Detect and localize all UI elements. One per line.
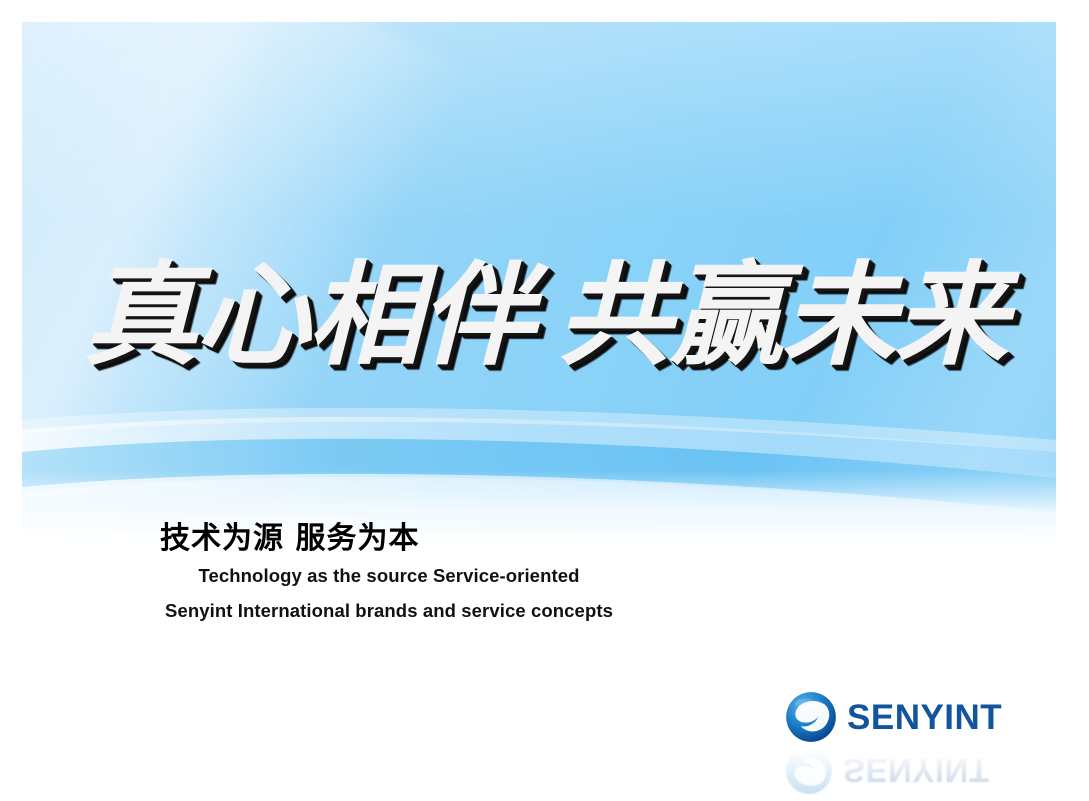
headline: 真心相伴共赢未来: [0, 258, 1089, 376]
title-slide: 真心相伴共赢未来 技术为源 服务为本 Technology as the sou…: [0, 0, 1089, 801]
logo-main: SENYINT: [784, 690, 1002, 744]
subtitle-english-line-2: Senyint International brands and service…: [22, 597, 1056, 625]
logo-reflection: SENYINT: [784, 746, 990, 796]
senyint-globe-icon-reflection: [784, 746, 834, 796]
subtitle-english-line-1: Technology as the source Service-oriente…: [22, 562, 1056, 590]
logo-wordmark-reflection: SENYINT: [843, 755, 990, 788]
logo-wordmark: SENYINT: [847, 700, 1002, 735]
senyint-globe-icon: [784, 690, 838, 744]
subtitle-chinese: 技术为源 服务为本: [22, 520, 1056, 558]
headline-part-2: 共赢未来: [557, 258, 1006, 376]
subtitle-block: 技术为源 服务为本 Technology as the source Servi…: [22, 520, 1056, 625]
headline-part-1: 真心相伴: [83, 258, 532, 376]
senyint-logo: SENYINT SENYINT: [784, 690, 1024, 790]
